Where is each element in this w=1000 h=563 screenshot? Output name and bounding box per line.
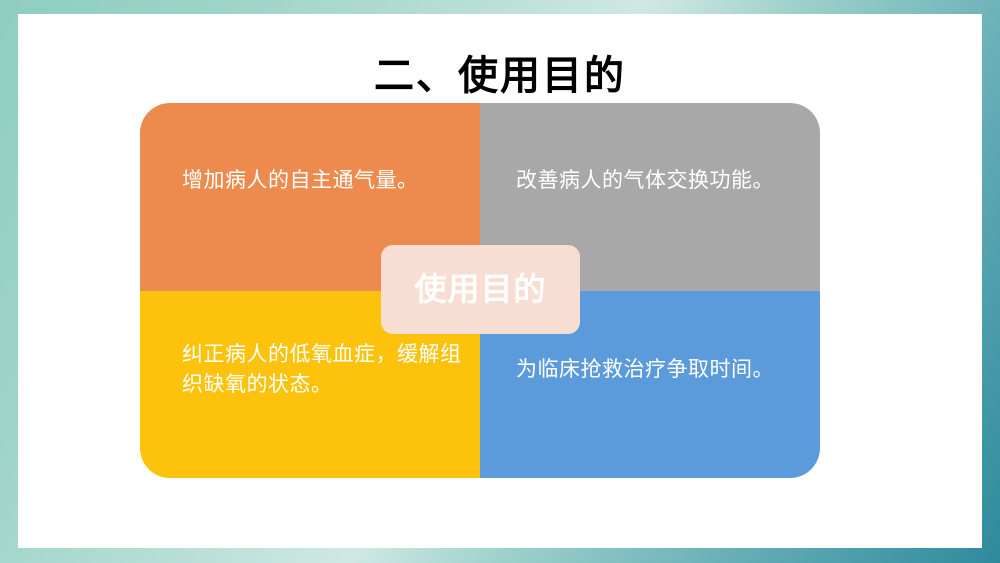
slide: 二、使用目的 增加病人的自主通气量。 改善病人的气体交换功能。 纠正病人的低氧血… — [0, 0, 1000, 563]
center-badge[interactable]: 使用目的 — [381, 245, 580, 334]
slide-content-area: 二、使用目的 增加病人的自主通气量。 改善病人的气体交换功能。 纠正病人的低氧血… — [18, 14, 982, 548]
page-title: 二、使用目的 — [18, 49, 982, 103]
quadrant-bottom-left-label: 纠正病人的低氧血症，缓解组织缺氧的状态。 — [182, 340, 466, 401]
quadrant-bottom-right-label: 为临床抢救治疗争取时间。 — [516, 355, 800, 385]
center-badge-label: 使用目的 — [414, 272, 546, 308]
quadrant-top-left-label: 增加病人的自主通气量。 — [182, 166, 466, 196]
quadrant-top-right-label: 改善病人的气体交换功能。 — [516, 166, 800, 196]
